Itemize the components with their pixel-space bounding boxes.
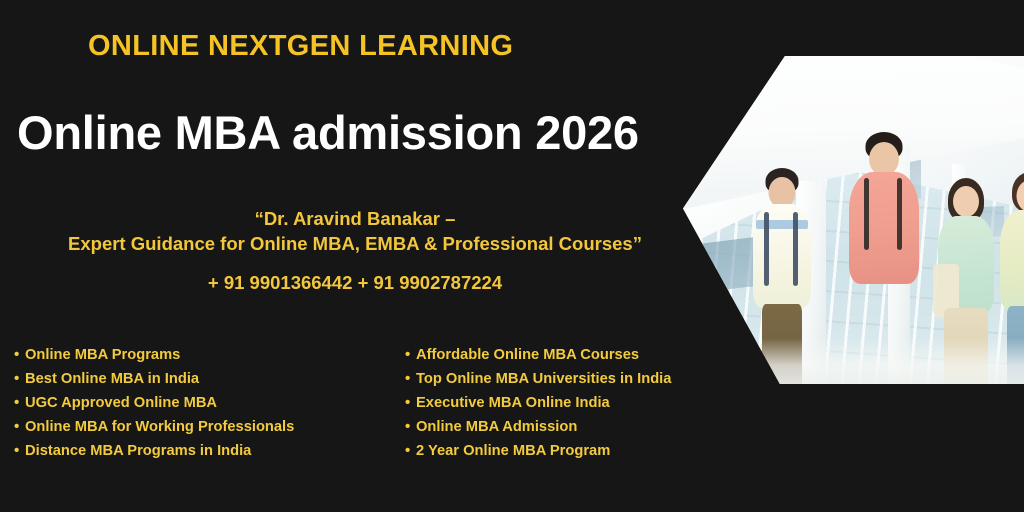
bullet-dot-icon: • xyxy=(405,415,416,438)
keyword-list-left: •Online MBA Programs •Best Online MBA in… xyxy=(14,343,294,463)
backpack-strap xyxy=(764,212,769,286)
student-head xyxy=(953,186,979,217)
backpack-strap xyxy=(864,178,869,250)
list-item: •Online MBA for Working Professionals xyxy=(14,415,294,439)
brand-eyebrow: ONLINE NEXTGEN LEARNING xyxy=(88,30,513,63)
page-title: Online MBA admission 2026 xyxy=(17,105,639,160)
keyword-list-right: •Affordable Online MBA Courses •Top Onli… xyxy=(405,343,671,463)
student-torso xyxy=(849,172,919,284)
photo-ground-haze xyxy=(683,338,1024,384)
list-item-label: UGC Approved Online MBA xyxy=(25,395,217,411)
list-item-label: Best Online MBA in India xyxy=(25,371,199,387)
photo-glass-reflection xyxy=(703,236,758,292)
list-item: •UGC Approved Online MBA xyxy=(14,391,294,415)
list-item-label: Online MBA for Working Professionals xyxy=(25,419,294,435)
bullet-dot-icon: • xyxy=(14,391,25,414)
list-item-label: Top Online MBA Universities in India xyxy=(416,371,671,387)
bullet-dot-icon: • xyxy=(14,367,25,390)
bullet-dot-icon: • xyxy=(405,343,416,366)
quote-line-2: Expert Guidance for Online MBA, EMBA & P… xyxy=(0,231,710,256)
list-item-label: Affordable Online MBA Courses xyxy=(416,347,639,363)
contact-phone-numbers: + 91 9901366442 + 91 9902787224 xyxy=(0,272,710,294)
bullet-dot-icon: • xyxy=(14,415,25,438)
list-item: •2 Year Online MBA Program xyxy=(405,439,671,463)
backpack-strap xyxy=(793,212,798,286)
list-item: •Online MBA Programs xyxy=(14,343,294,367)
hexagon-photo-frame xyxy=(683,56,1024,384)
bullet-dot-icon: • xyxy=(405,367,416,390)
student-head xyxy=(869,142,899,176)
bullet-dot-icon: • xyxy=(405,439,416,462)
promo-banner: ONLINE NEXTGEN LEARNING Online MBA admis… xyxy=(0,0,1024,512)
list-item-label: Online MBA Programs xyxy=(25,347,180,363)
list-item: •Online MBA Admission xyxy=(405,415,671,439)
list-item-label: Distance MBA Programs in India xyxy=(25,443,251,459)
list-item: •Distance MBA Programs in India xyxy=(14,439,294,463)
list-item: •Top Online MBA Universities in India xyxy=(405,367,671,391)
students-campus-photo xyxy=(683,56,1024,384)
bullet-dot-icon: • xyxy=(405,391,416,414)
list-item-label: Executive MBA Online India xyxy=(416,395,610,411)
expert-quote: “Dr. Aravind Banakar – Expert Guidance f… xyxy=(0,206,710,256)
quote-line-1: “Dr. Aravind Banakar – xyxy=(0,206,710,231)
list-item: •Affordable Online MBA Courses xyxy=(405,343,671,367)
list-item: •Best Online MBA in India xyxy=(14,367,294,391)
bullet-dot-icon: • xyxy=(14,343,25,366)
list-item: •Executive MBA Online India xyxy=(405,391,671,415)
list-item-label: 2 Year Online MBA Program xyxy=(416,443,610,459)
bullet-dot-icon: • xyxy=(14,439,25,462)
backpack-strap xyxy=(897,178,902,250)
list-item-label: Online MBA Admission xyxy=(416,419,577,435)
student-torso xyxy=(1000,210,1024,310)
